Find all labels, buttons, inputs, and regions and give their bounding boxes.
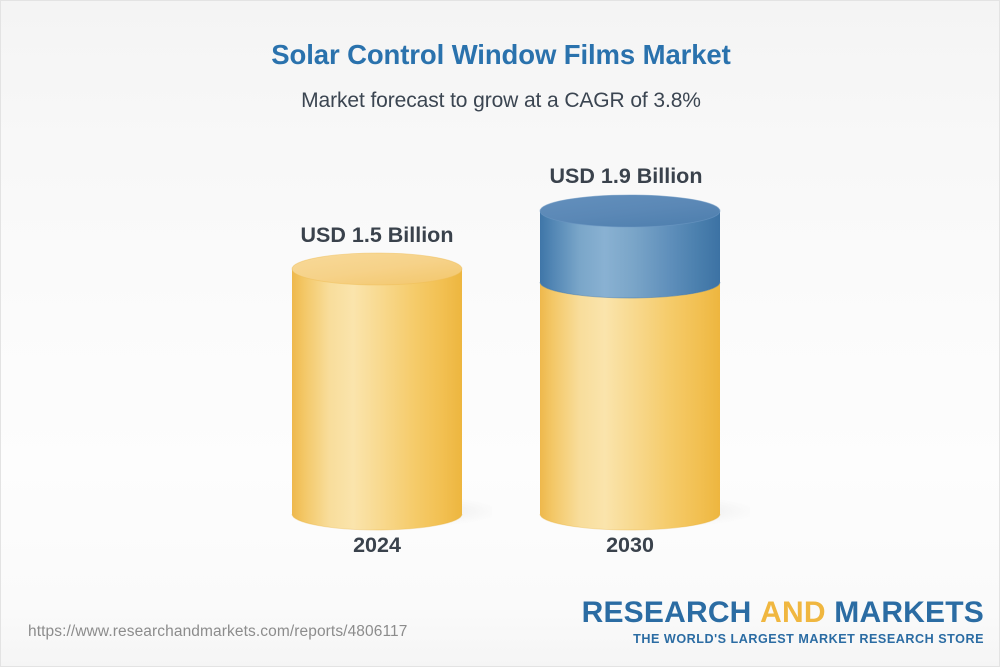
brand-word-and: AND xyxy=(760,596,826,629)
source-url[interactable]: https://www.researchandmarkets.com/repor… xyxy=(28,623,407,641)
bar-value-label-2030: USD 1.9 Billion xyxy=(466,164,786,189)
brand-tagline: THE WORLD'S LARGEST MARKET RESEARCH STOR… xyxy=(582,631,984,647)
bar-cylinder-2030[interactable] xyxy=(525,189,750,537)
bar-segment-base-2030 xyxy=(540,282,720,530)
brand-word-research: RESEARCH xyxy=(582,596,752,629)
bar-category-label-2030: 2030 xyxy=(470,533,790,558)
bar-cylinder-2024[interactable] xyxy=(277,247,492,537)
bar-body-2024 xyxy=(292,269,462,530)
chart-plot-area: USD 1.5 Billion xyxy=(1,1,1000,601)
brand-word-markets: MARKETS xyxy=(834,596,984,629)
brand-logo[interactable]: RESEARCH AND MARKETS THE WORLD'S LARGEST… xyxy=(582,598,984,647)
bar-value-label-2024: USD 1.5 Billion xyxy=(217,223,537,248)
chart-page: Solar Control Window Films Market Market… xyxy=(0,0,1000,667)
brand-wordmark: RESEARCH AND MARKETS xyxy=(582,598,984,629)
